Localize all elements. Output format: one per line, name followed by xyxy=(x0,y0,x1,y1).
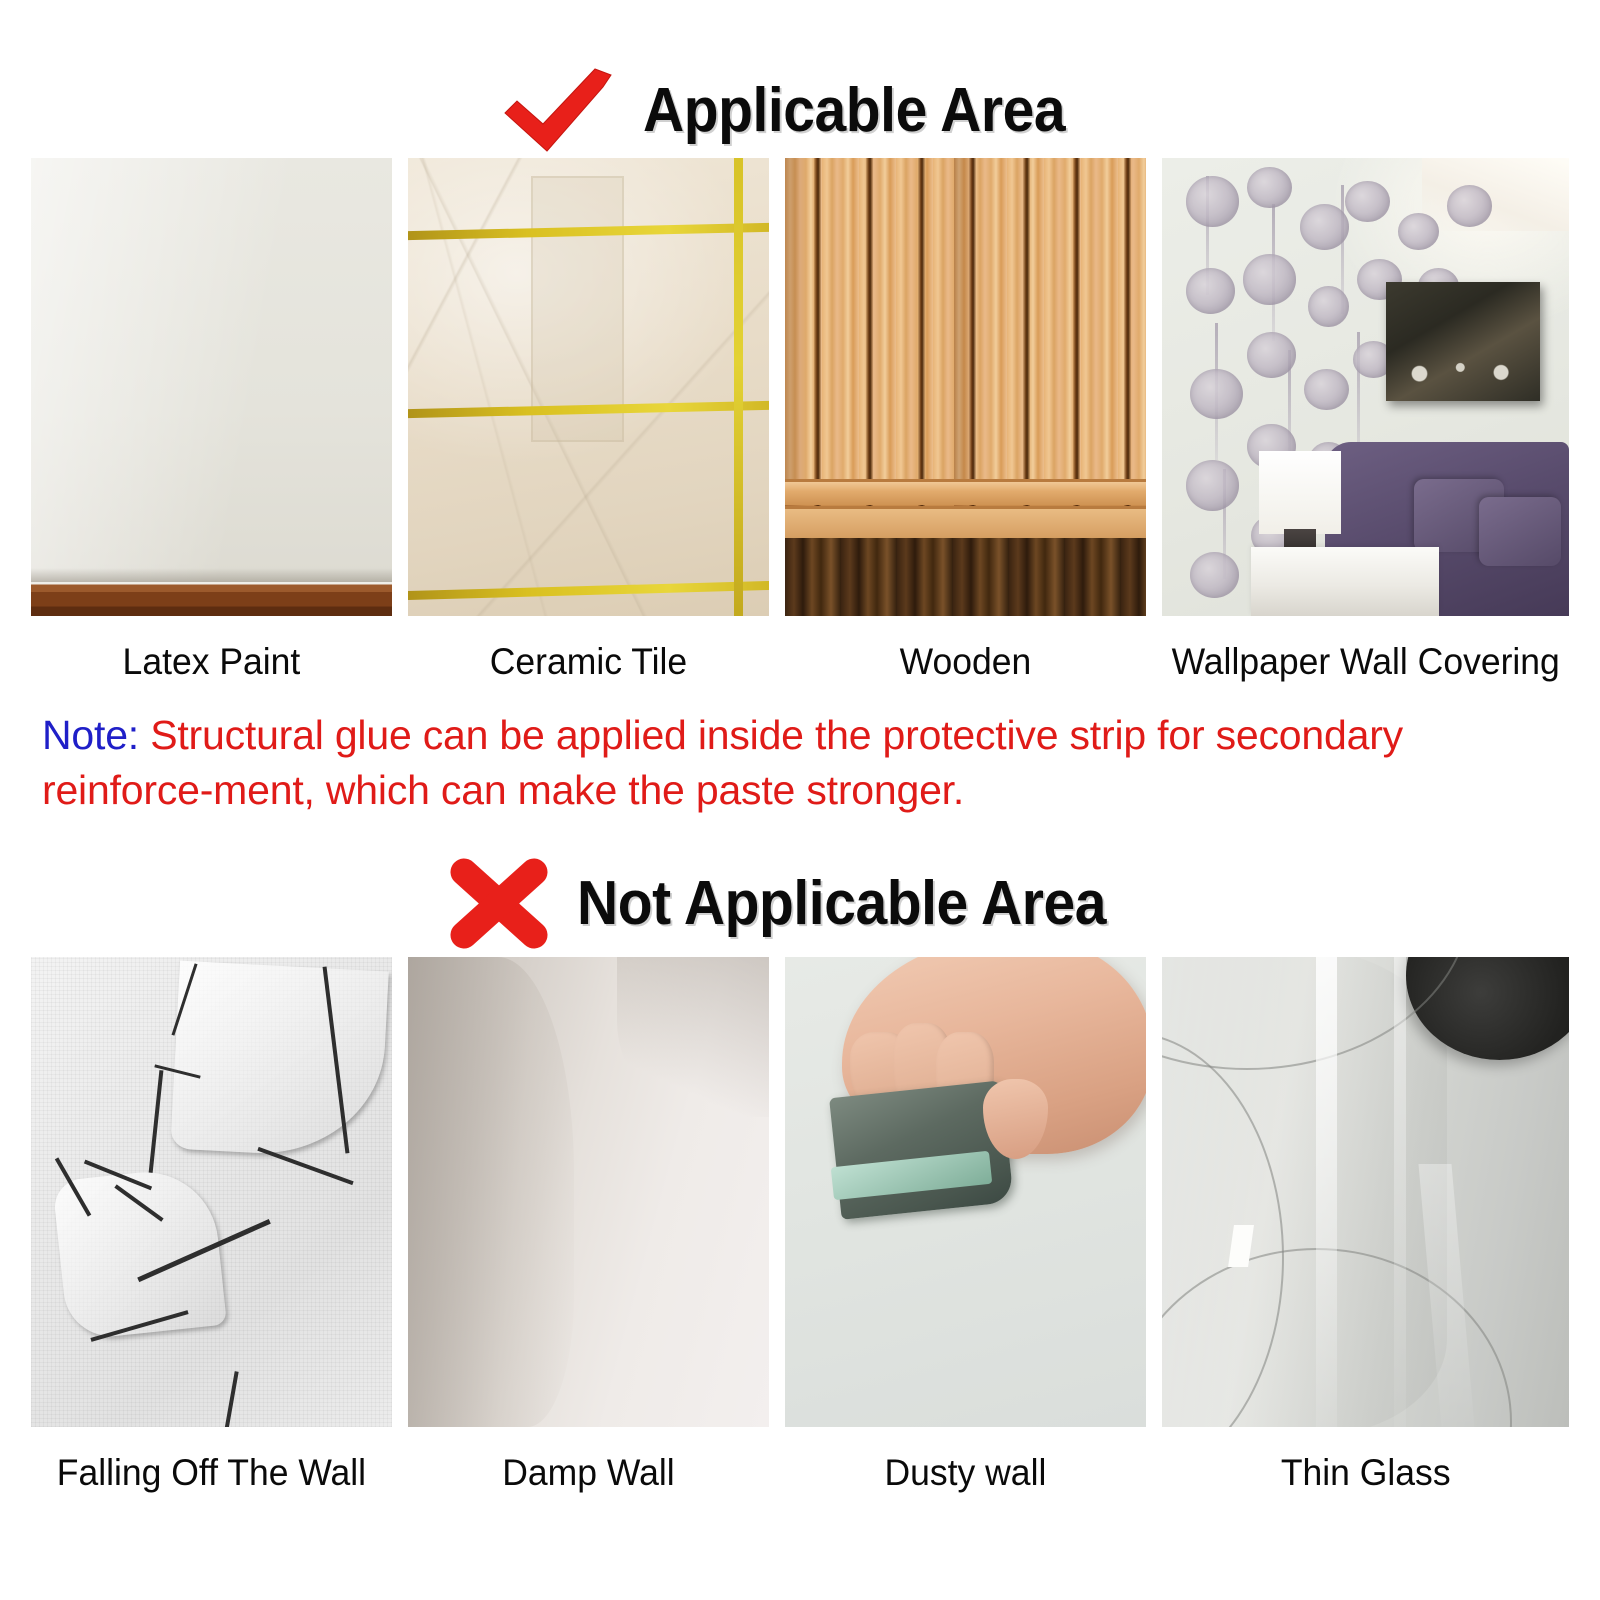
cracked-peeling-plaster-photo xyxy=(31,957,392,1427)
note-label: Note: xyxy=(42,712,139,758)
tile-wallpaper-wall-covering[interactable]: Wallpaper Wall Covering xyxy=(1162,158,1569,680)
caption-wallpaper-wall-covering: Wallpaper Wall Covering xyxy=(1170,616,1561,680)
tile-wooden[interactable]: Wooden xyxy=(785,158,1146,680)
damp-stained-wall-photo xyxy=(408,957,769,1427)
caption-thin-glass: Thin Glass xyxy=(1170,1427,1561,1491)
caption-latex-paint: Latex Paint xyxy=(38,616,384,680)
thin-glass-sheet-photo xyxy=(1162,957,1569,1427)
note-text: Structural glue can be applied inside th… xyxy=(42,712,1403,813)
ceramic-tile-wall-photo xyxy=(408,158,769,616)
wallpaper-bedroom-photo xyxy=(1162,158,1569,616)
red-check-icon xyxy=(499,67,617,153)
tile-damp-wall[interactable]: Damp Wall xyxy=(408,957,769,1491)
applicable-area-title: Applicable Area xyxy=(643,75,1065,146)
not-applicable-area-header: Not Applicable Area xyxy=(0,855,1600,951)
tile-latex-paint[interactable]: Latex Paint xyxy=(31,158,392,680)
wooden-plank-wall-photo xyxy=(785,158,1146,616)
caption-ceramic-tile: Ceramic Tile xyxy=(415,616,761,680)
tile-ceramic-tile[interactable]: Ceramic Tile xyxy=(408,158,769,680)
caption-falling-off-the-wall: Falling Off The Wall xyxy=(38,1427,384,1491)
infographic-page: Applicable Area Latex Paint Ceramic Tile xyxy=(0,62,1600,1600)
hand-wiping-dusty-wall-photo xyxy=(785,957,1146,1427)
caption-wooden: Wooden xyxy=(792,616,1138,680)
tile-falling-off-the-wall[interactable]: Falling Off The Wall xyxy=(31,957,392,1491)
red-cross-icon xyxy=(447,857,551,949)
not-applicable-area-tile-row: Falling Off The Wall Damp Wall Dusty wal… xyxy=(0,957,1600,1491)
tile-dusty-wall[interactable]: Dusty wall xyxy=(785,957,1146,1491)
applicable-area-tile-row: Latex Paint Ceramic Tile xyxy=(0,158,1600,680)
applicable-area-header: Applicable Area xyxy=(0,62,1600,158)
not-applicable-area-title: Not Applicable Area xyxy=(577,868,1106,939)
tile-thin-glass[interactable]: Thin Glass xyxy=(1162,957,1569,1491)
note-paragraph: Note: Structural glue can be applied ins… xyxy=(0,680,1600,817)
caption-damp-wall: Damp Wall xyxy=(415,1427,761,1491)
latex-paint-wall-photo xyxy=(31,158,392,616)
caption-dusty-wall: Dusty wall xyxy=(792,1427,1138,1491)
